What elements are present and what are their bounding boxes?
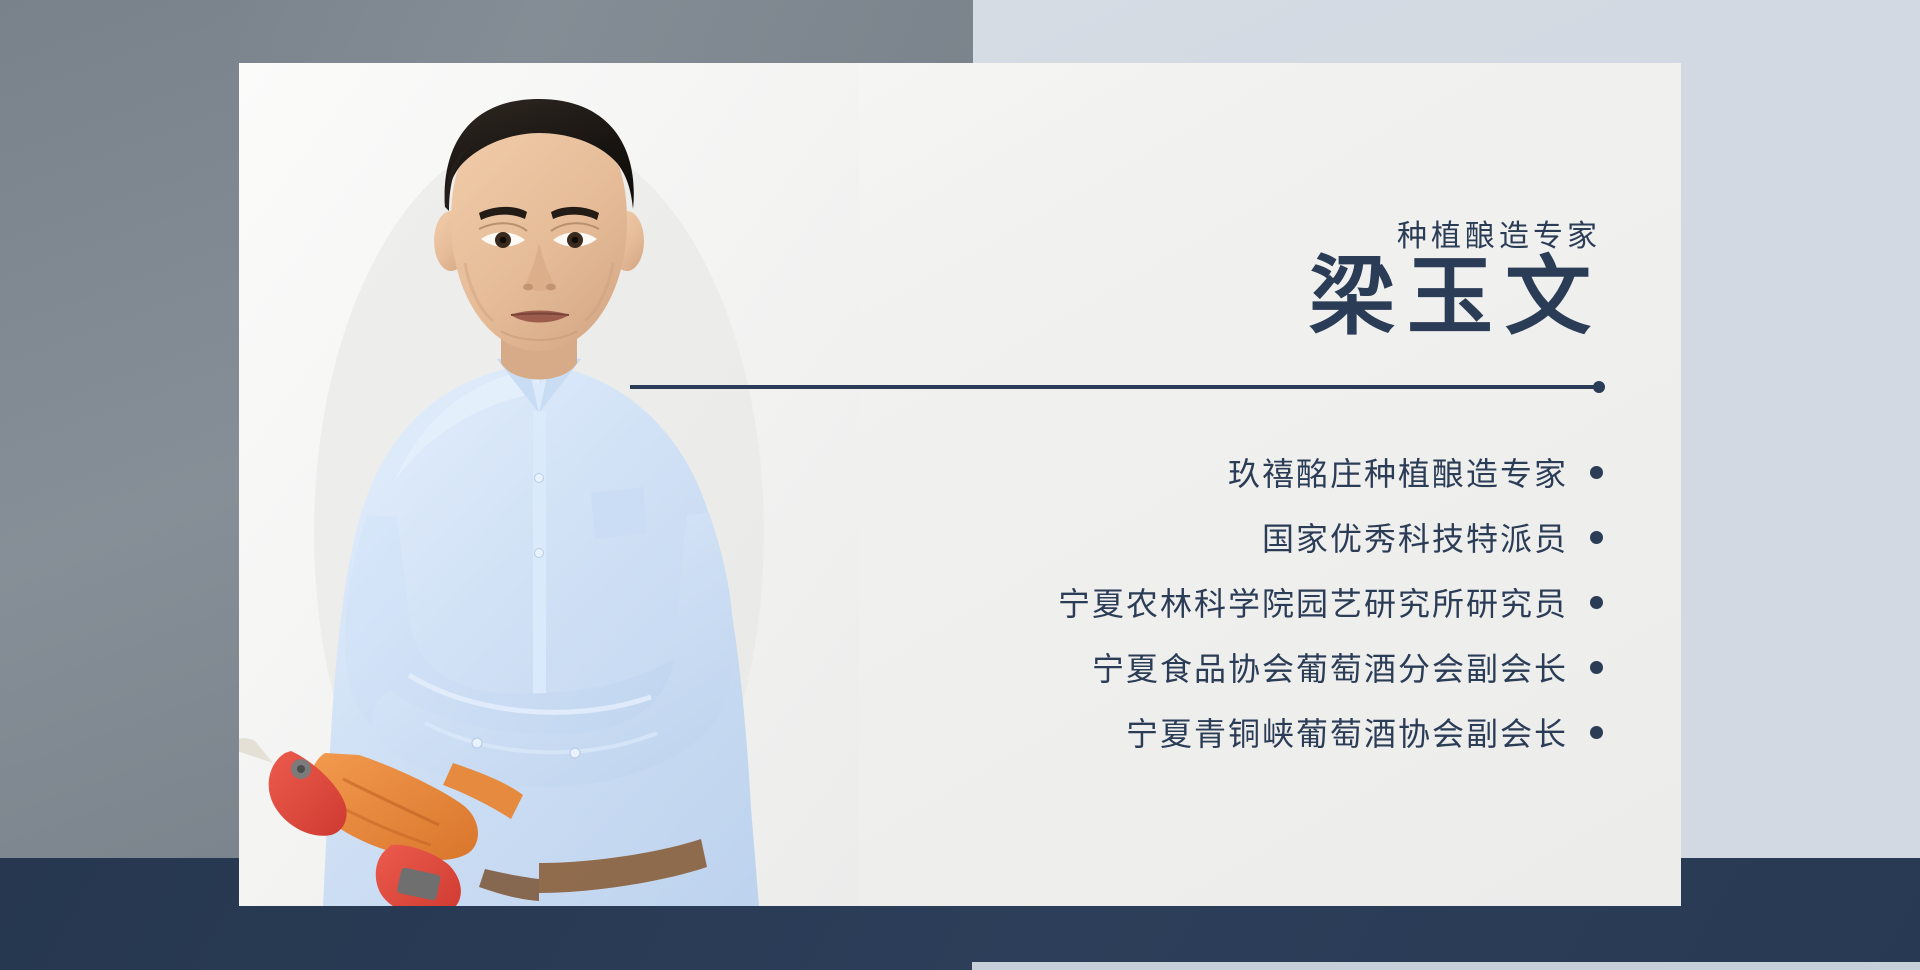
credential-label: 玖禧酩庄种植酿造专家 <box>1228 449 1568 495</box>
list-item: 国家优秀科技特派员 <box>803 510 1603 564</box>
credential-label: 宁夏农林科学院园艺研究所研究员 <box>1058 579 1568 625</box>
list-item: 玖禧酩庄种植酿造专家 <box>803 445 1603 499</box>
credential-label: 宁夏食品协会葡萄酒分会副会长 <box>1092 644 1568 690</box>
credential-label: 国家优秀科技特派员 <box>1262 514 1568 560</box>
divider <box>630 381 1605 393</box>
list-item: 宁夏农林科学院园艺研究所研究员 <box>803 575 1603 629</box>
list-item: 宁夏食品协会葡萄酒分会副会长 <box>803 640 1603 694</box>
expert-portrait-photo <box>239 63 859 906</box>
bullet-dot-icon <box>1590 466 1603 479</box>
bullet-dot-icon <box>1590 531 1603 544</box>
profile-name: 梁玉文 <box>1309 251 1603 344</box>
poster-canvas: 种植酿造专家 梁玉文 玖禧酩庄种植酿造专家 国家优秀科技特派员 宁夏农林科学院园… <box>0 0 1920 970</box>
credential-label: 宁夏青铜峡葡萄酒协会副会长 <box>1126 709 1568 755</box>
background-block-gray-left <box>0 0 239 858</box>
credentials-list: 玖禧酩庄种植酿造专家 国家优秀科技特派员 宁夏农林科学院园艺研究所研究员 宁夏食… <box>803 445 1603 770</box>
background-strip-bottom-right <box>972 962 1920 970</box>
bullet-dot-icon <box>1590 596 1603 609</box>
background-block-lightblue-far-right <box>1681 0 1920 858</box>
divider-end-dot-icon <box>1593 381 1605 393</box>
profile-card: 种植酿造专家 梁玉文 玖禧酩庄种植酿造专家 国家优秀科技特派员 宁夏农林科学院园… <box>239 63 1681 906</box>
bullet-dot-icon <box>1590 661 1603 674</box>
bullet-dot-icon <box>1590 726 1603 739</box>
divider-line <box>630 385 1600 389</box>
list-item: 宁夏青铜峡葡萄酒协会副会长 <box>803 705 1603 759</box>
